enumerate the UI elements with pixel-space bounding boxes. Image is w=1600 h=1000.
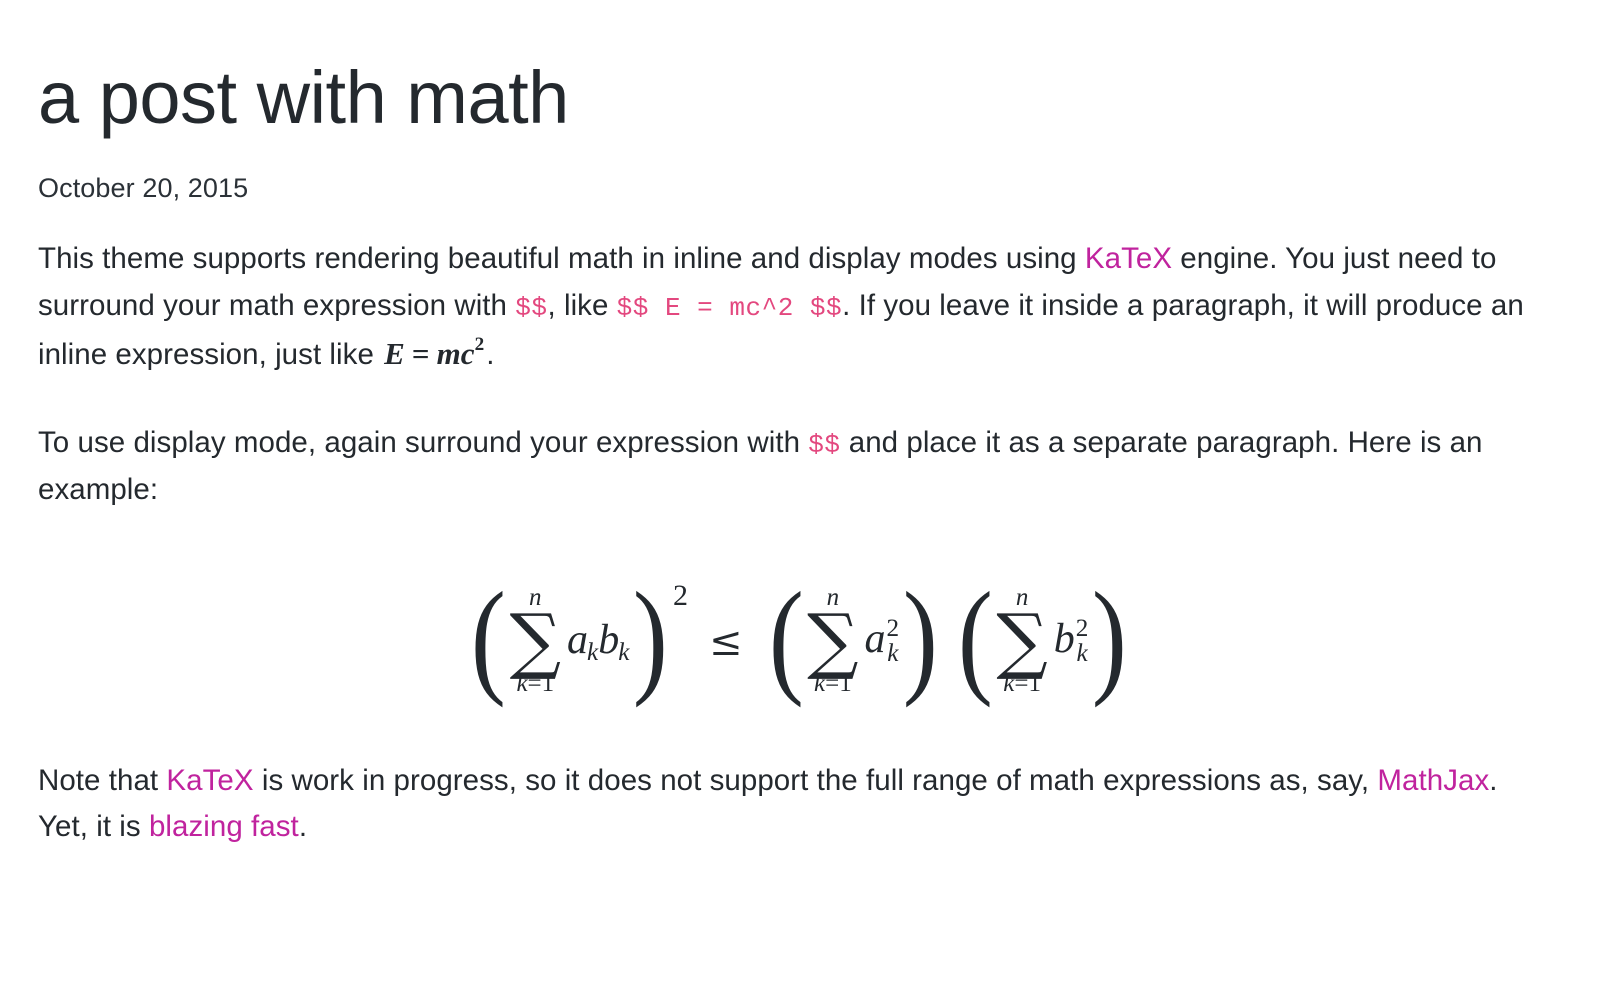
sum-index-value: 1 xyxy=(1028,670,1041,697)
code-dollar-delimiters: $$ xyxy=(808,430,840,460)
link-katex[interactable]: KaTeX xyxy=(1085,242,1172,275)
operand-b: b xyxy=(598,617,619,663)
sum-index-var: k xyxy=(516,670,527,697)
code-dollar-delimiters: $$ xyxy=(515,293,547,323)
operand-a-superscript: 2 xyxy=(887,616,900,641)
display-math-cauchy-schwarz: ( n ∑ k=1 akbk ) 2 ≤ ( n ∑ k=1 a2k xyxy=(38,560,1560,720)
sum-index-var: k xyxy=(1003,670,1014,697)
sum-index-value: 1 xyxy=(839,670,852,697)
operand-b-superscript: 2 xyxy=(1076,616,1089,641)
math-relation-leq: ≤ xyxy=(687,622,765,662)
math-group-2: ( n ∑ k=1 a2k ) xyxy=(765,584,942,695)
math-relation-equals: = xyxy=(405,336,437,371)
paragraph-text: . xyxy=(486,338,494,371)
sigma-icon: ∑ xyxy=(510,611,561,670)
math-variable-mc: mc xyxy=(437,336,475,371)
sum-lower-limit: k=1 xyxy=(1003,671,1041,696)
summation-3: n ∑ k=1 xyxy=(996,585,1047,696)
paragraph-text: This theme supports rendering beautiful … xyxy=(38,242,1085,275)
math-group-1: ( n ∑ k=1 akbk ) 2 xyxy=(467,584,687,695)
link-mathjax[interactable]: MathJax xyxy=(1377,764,1489,797)
operand-a-subsup: 2k xyxy=(887,616,900,666)
sum-lower-limit: k=1 xyxy=(516,671,554,696)
summand-akbk: akbk xyxy=(567,619,629,665)
paragraph-text: , like xyxy=(547,289,616,322)
paragraph-text: Note that xyxy=(38,764,166,797)
summand-ak2: a2k xyxy=(865,617,900,667)
operand-a-subscript: k xyxy=(887,641,900,666)
left-paren-icon: ( xyxy=(768,588,803,688)
link-blazing-fast[interactable]: blazing fast xyxy=(149,810,299,843)
page-title: a post with math xyxy=(38,58,1560,138)
sum-index-value: 1 xyxy=(542,670,555,697)
math-exponent-2: 2 xyxy=(475,334,485,355)
right-paren-icon: ) xyxy=(1092,588,1127,688)
code-math-example: $$ E = mc^2 $$ xyxy=(617,293,842,323)
group-exponent-2: 2 xyxy=(673,581,688,611)
operand-b-subscript: k xyxy=(618,639,629,666)
summation-1: n ∑ k=1 xyxy=(510,585,561,696)
operand-a: a xyxy=(567,617,588,663)
link-katex[interactable]: KaTeX xyxy=(166,764,253,797)
paragraph-text: . xyxy=(299,810,307,843)
operand-b: b xyxy=(1054,615,1075,661)
sigma-icon: ∑ xyxy=(996,611,1047,670)
paragraph-text: To use display mode, again surround your… xyxy=(38,426,808,459)
left-paren-icon: ( xyxy=(958,588,993,688)
sigma-icon: ∑ xyxy=(807,611,858,670)
paragraph-note: Note that KaTeX is work in progress, so … xyxy=(38,758,1530,851)
paragraph-display-mode: To use display mode, again surround your… xyxy=(38,420,1530,513)
post-page: a post with math October 20, 2015 This t… xyxy=(0,0,1600,1000)
sum-index-equals: = xyxy=(825,670,839,697)
sum-index-equals: = xyxy=(1014,670,1028,697)
summand-bk2: b2k xyxy=(1054,617,1089,667)
math-group-3: ( n ∑ k=1 b2k ) xyxy=(954,584,1131,695)
operand-b-subsup: 2k xyxy=(1076,616,1089,666)
paragraph-intro: This theme supports rendering beautiful … xyxy=(38,236,1530,378)
operand-b-subscript: k xyxy=(1076,641,1089,666)
sum-lower-limit: k=1 xyxy=(814,671,852,696)
sum-index-var: k xyxy=(814,670,825,697)
sum-index-equals: = xyxy=(528,670,542,697)
right-paren-icon: ) xyxy=(633,588,668,688)
equation-body: ( n ∑ k=1 akbk ) 2 ≤ ( n ∑ k=1 a2k xyxy=(467,560,1131,720)
operand-a: a xyxy=(865,615,886,661)
paragraph-text: is work in progress, so it does not supp… xyxy=(254,764,1378,797)
right-paren-icon: ) xyxy=(903,588,938,688)
operand-a-subscript: k xyxy=(587,639,598,666)
summation-2: n ∑ k=1 xyxy=(807,585,858,696)
post-date: October 20, 2015 xyxy=(38,172,1560,204)
left-paren-icon: ( xyxy=(471,588,506,688)
math-variable-E: E xyxy=(384,336,405,371)
inline-math-emc2: E=mc2 xyxy=(382,336,486,371)
